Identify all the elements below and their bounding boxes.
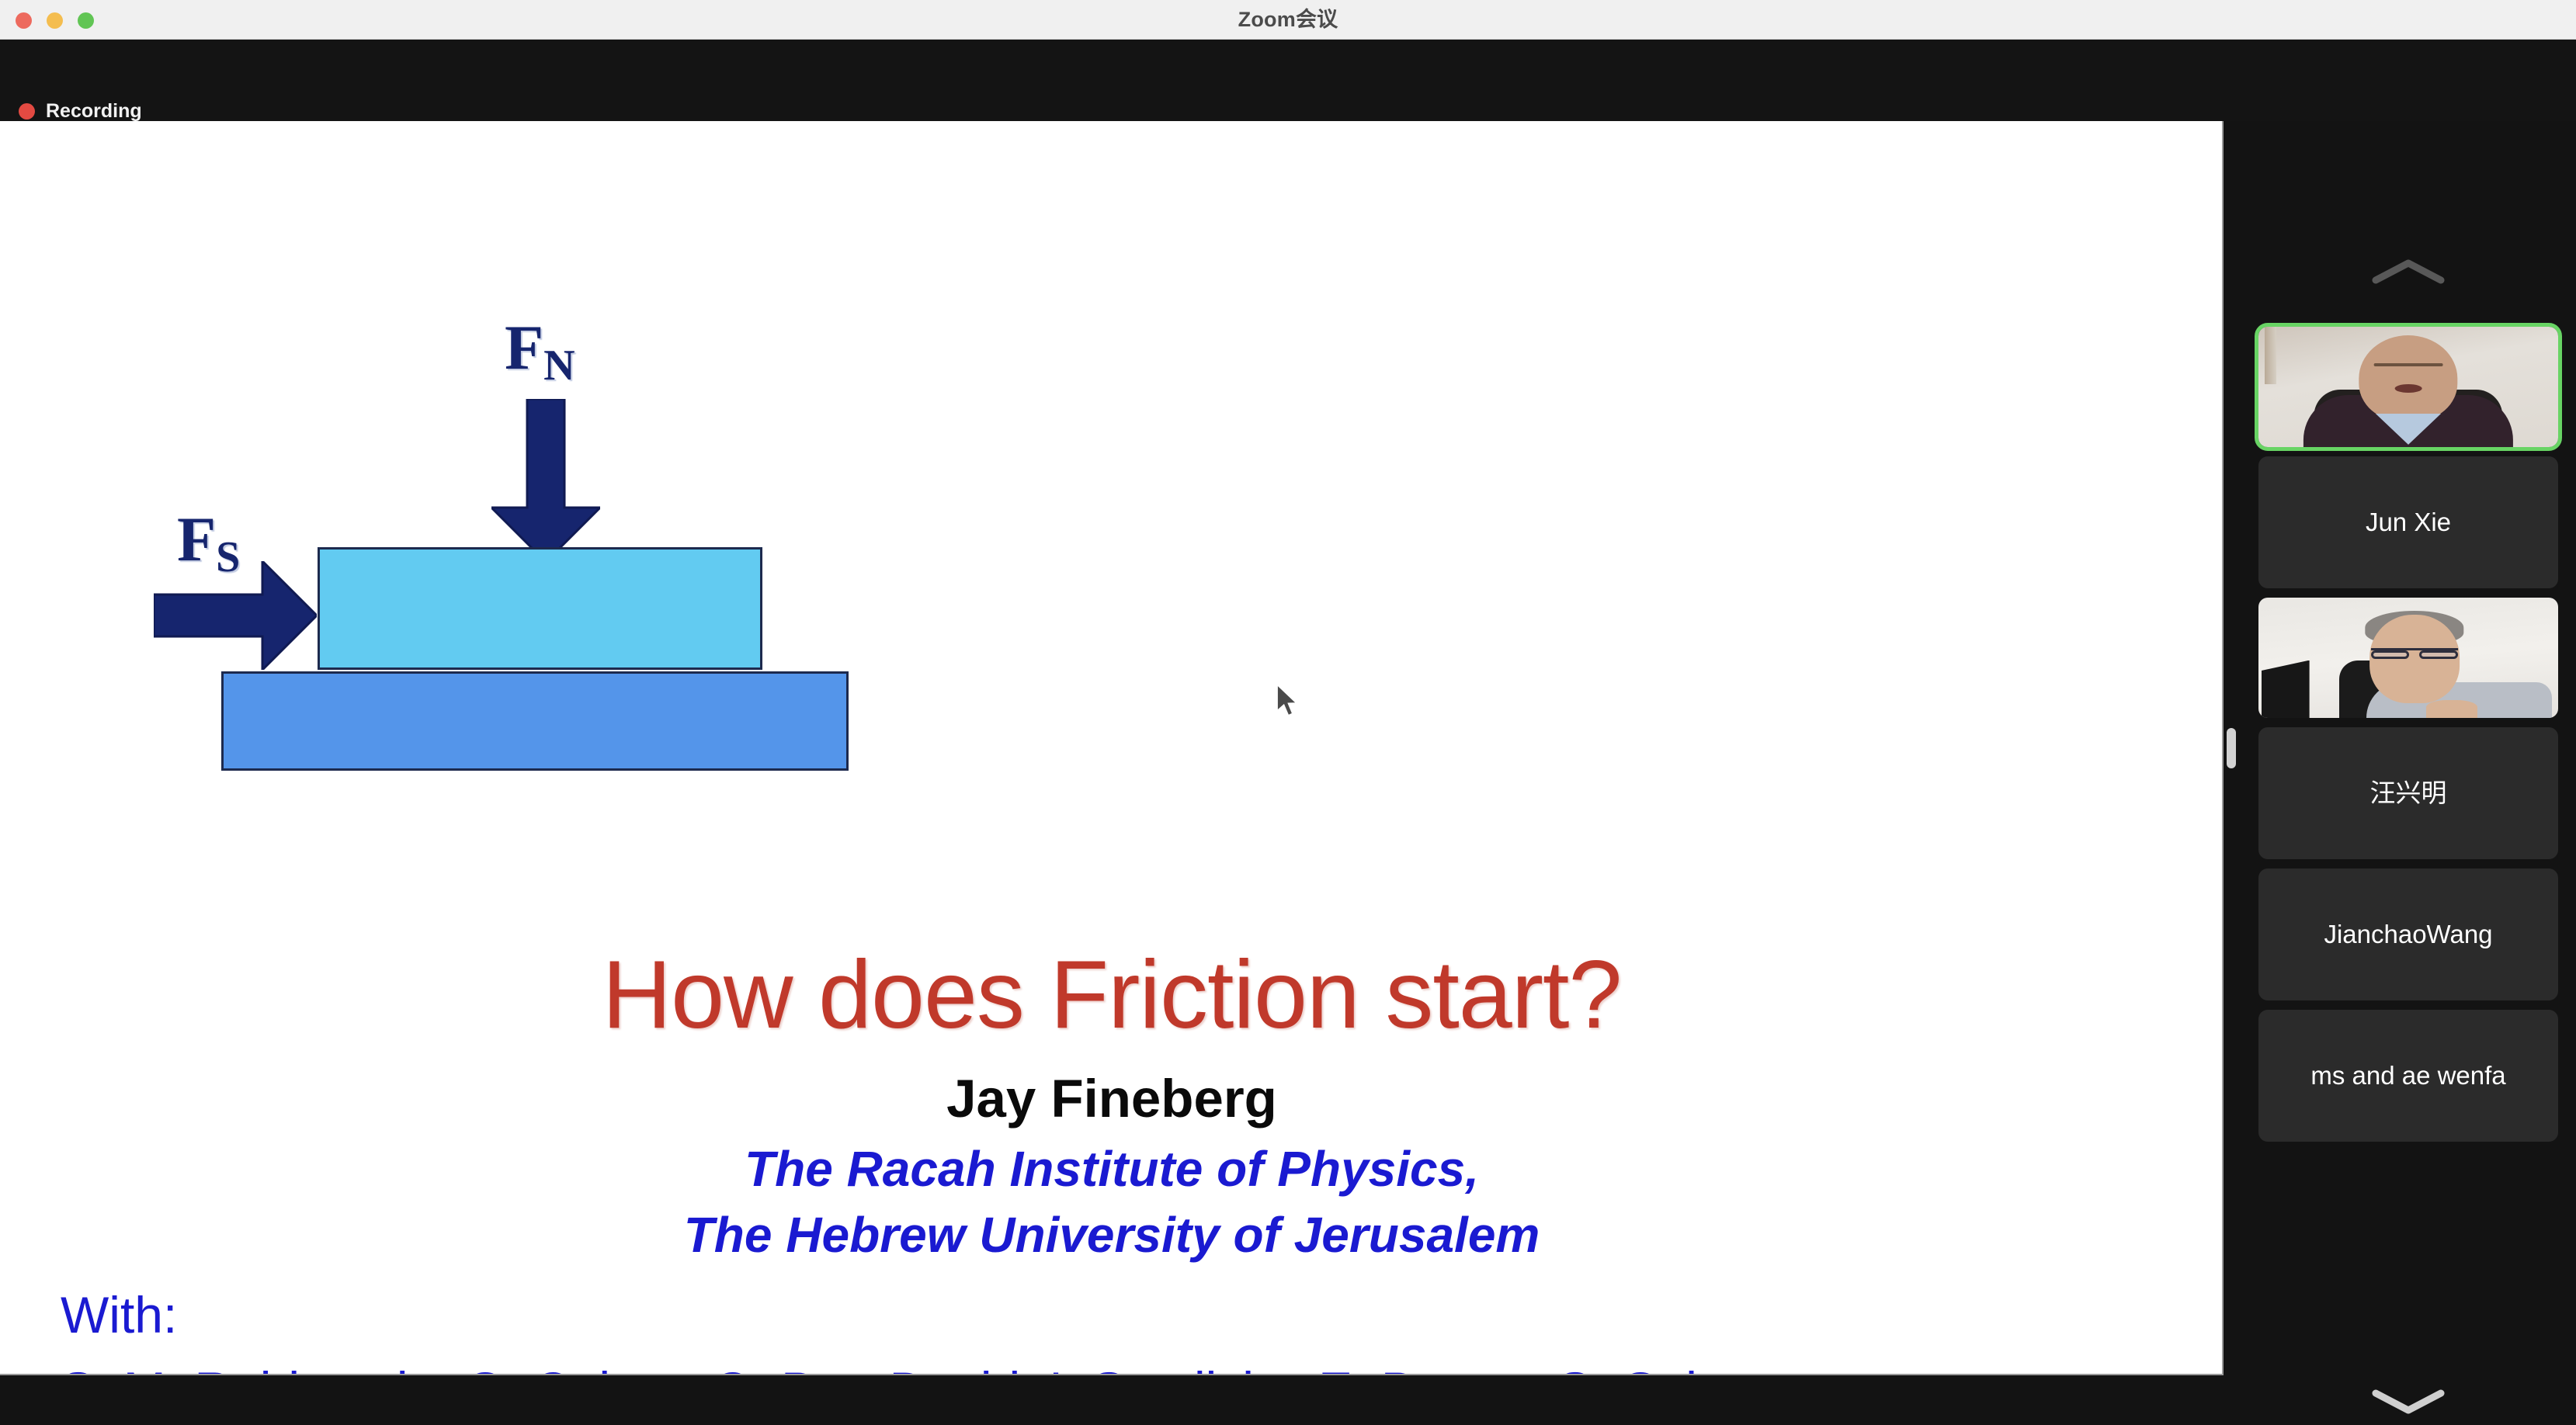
normal-force-subscript: N [543,342,575,390]
scroll-up-button[interactable] [2241,248,2576,295]
webcam-video-feed-2 [2258,598,2558,718]
slide-affiliation-line-2: The Hebrew University of Jerusalem [0,1206,2224,1264]
slide-affiliation-line-1: The Racah Institute of Physics, [0,1140,2224,1198]
friction-diagram: FN FS [0,121,2224,812]
with-label: With: [61,1285,177,1344]
panel-resize-handle[interactable] [2227,728,2236,768]
normal-force-symbol: F [505,312,543,383]
participant-tile-video-2[interactable] [2258,598,2558,718]
participant-tile-jun-xie[interactable]: Jun Xie [2258,456,2558,588]
shear-force-arrow-icon [154,561,317,670]
normal-force-arrow-icon [491,399,600,562]
person-head-2 [2369,615,2460,704]
person-brow [2374,363,2443,367]
recording-dot-icon [19,103,35,120]
chevron-down-icon [2369,1389,2447,1415]
recording-indicator[interactable]: Recording [19,100,142,123]
participant-tile-wangxingming[interactable]: 汪兴明 [2258,727,2558,859]
bottom-block-shape [221,671,849,771]
participant-name-label: ms and ae wenfa [2303,1060,2513,1091]
normal-force-label: FN [505,311,575,384]
glasses-lens-left [2371,650,2409,659]
person-glasses [2371,648,2458,659]
participant-tile-ms-and-ae-wenfa[interactable]: ms and ae wenfa [2258,1010,2558,1142]
person-hand-2 [2426,700,2477,718]
scroll-down-button[interactable] [2241,1378,2576,1425]
wall-edge [2265,327,2276,384]
person-head [2359,335,2457,422]
coauthors-list: S. M. Rubinstein, G. Cohen, O. Ben-David… [61,1361,1854,1375]
participant-tile-jianchaowang[interactable]: JianchaoWang [2258,869,2558,1000]
participant-name-label: JianchaoWang [2316,919,2500,950]
participant-name-label: Jun Xie [2358,507,2459,538]
mouse-cursor [1277,685,1304,719]
chair-left [2262,660,2310,718]
participant-name-label: 汪兴明 [2362,778,2455,809]
person-mouth [2395,384,2422,393]
chevron-up-icon [2369,258,2447,285]
top-block-shape [318,547,762,670]
participant-tile-active-speaker[interactable] [2258,327,2558,447]
shared-screen-slide[interactable]: FN FS How does Friction start? Jay Fineb… [0,121,2224,1375]
slide-title: How does Friction start? [0,940,2224,1050]
recording-bar: Recording [0,40,2576,121]
window-title: Zoom会议 [0,0,2576,40]
participant-rail: Jun Xie 汪兴明 JianchaoWang ms and ae wenfa [2241,121,2576,1375]
recording-label: Recording [46,100,142,123]
glasses-lens-right [2419,650,2457,659]
webcam-video-feed [2258,327,2558,447]
slide-author: Jay Fineberg [0,1068,2224,1129]
window-titlebar: Zoom会议 [0,0,2576,40]
